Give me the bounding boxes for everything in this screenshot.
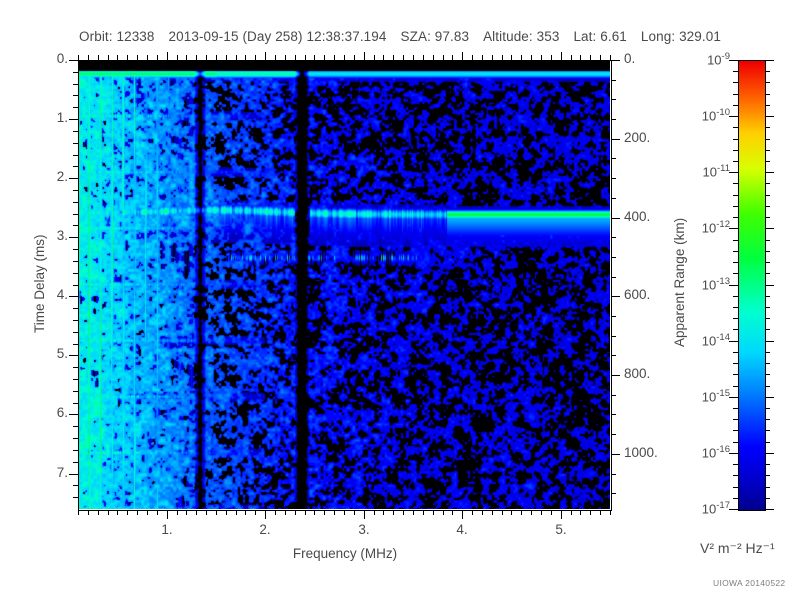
y-tick-minor [73,497,78,498]
x-tick-minor [492,510,493,515]
observation-date: 2013-09-15 (Day 258) [169,29,303,44]
colorbar-tick-minor [765,273,770,274]
colorbar-tick-minor [765,206,770,207]
y-tick-major [69,474,78,475]
y-tick-minor [73,308,78,309]
colorbar-unit-label: V² m⁻² Hz⁻¹ [700,540,775,557]
colorbar-tick-minor [765,464,770,465]
long-value: 329.01 [679,29,721,44]
colorbar-tick-minor [733,430,738,431]
x-tick-minor [255,510,256,515]
x-tick-minor [285,510,286,515]
x-tick-top [275,55,276,60]
y-tick-minor [73,249,78,250]
x-tick-minor [541,510,542,515]
x-tick-label: 4. [442,522,482,537]
x-tick-top [492,55,493,60]
colorbar-tick-label: 10-12 [666,219,730,235]
x-tick-top [216,55,217,60]
x-tick-top [245,55,246,60]
y-tick-minor [73,450,78,451]
y-tick-minor [73,438,78,439]
orbit-label: Orbit: [79,29,113,44]
y-tick-minor [73,391,78,392]
colorbar-tick-minor [733,296,738,297]
x-tick-major [364,510,365,519]
x-tick-minor [275,510,276,515]
x-tick-minor [206,510,207,515]
y-tick-minor [73,155,78,156]
x-tick-minor [226,510,227,515]
x-tick-top [383,55,384,60]
colorbar-tick-minor [733,82,738,83]
colorbar-tick-left [729,341,738,342]
colorbar-tick-minor [733,217,738,218]
y-tick-minor [73,403,78,404]
spectrogram-canvas[interactable] [78,60,610,509]
colorbar-tick-minor [765,386,770,387]
x-tick-top [137,55,138,60]
x-tick-minor [571,510,572,515]
x-tick-minor [403,510,404,515]
colorbar-tick-right [765,116,774,117]
colorbar-tick-minor [733,475,738,476]
colorbar-tick-minor [733,487,738,488]
colorbar-tick-right [765,60,774,61]
y-tick-minor [73,166,78,167]
y2-tick-label: 0. [624,51,635,66]
colorbar-tick-minor [765,408,770,409]
x-tick-major [561,510,562,519]
x-tick-minor [236,510,237,515]
altitude-value: 353 [537,29,560,44]
x-tick-top [196,55,197,60]
lat-label: Lat: [573,29,596,44]
colorbar-tick-minor [765,139,770,140]
observation-time: 12:38:37.194 [306,29,386,44]
y2-tick-label: 600. [624,287,650,302]
x-tick-major [462,510,463,519]
y2-tick-minor [611,316,616,317]
y2-tick-label: 400. [624,209,650,224]
colorbar-tick-minor [733,139,738,140]
y2-tick-label: 1000. [624,445,658,460]
colorbar-tick-minor [765,442,770,443]
x-tick-minor [393,510,394,515]
y2-tick-minor [611,80,616,81]
plot-header: Orbit: 123382013-09-15 (Day 258) 12:38:3… [0,29,800,44]
x-tick-top [226,55,227,60]
x-tick-top [98,55,99,60]
x-tick-top [314,55,315,60]
y2-tick-minor [611,493,616,494]
lat-value: 6.61 [600,29,627,44]
colorbar-tick-minor [733,195,738,196]
colorbar-tick-minor [733,419,738,420]
x-tick-top [610,55,611,60]
x-tick-minor [502,510,503,515]
x-tick-top [551,55,552,60]
colorbar-tick-minor [733,498,738,499]
colorbar-tick-minor [733,240,738,241]
colorbar-tick-minor [765,487,770,488]
y2-tick-label: 800. [624,366,650,381]
colorbar-tick-right [765,341,774,342]
colorbar-tick-left [729,453,738,454]
colorbar-tick-minor [765,105,770,106]
colorbar-tick-minor [765,240,770,241]
y-tick-minor [73,95,78,96]
colorbar-tick-label: 10-14 [666,332,730,348]
x-tick-minor [452,510,453,515]
colorbar-tick-minor [733,318,738,319]
colorbar-tick-minor [765,498,770,499]
y-tick-major [69,296,78,297]
y2-tick-label: 200. [624,130,650,145]
y-tick-minor [73,84,78,85]
colorbar-tick-minor [765,183,770,184]
x-tick-minor [383,510,384,515]
y2-tick-minor [611,434,616,435]
x-tick-minor [580,510,581,515]
y-tick-major [69,414,78,415]
x-tick-top [393,55,394,60]
x-tick-top [521,55,522,60]
x-tick-minor [245,510,246,515]
x-tick-minor [295,510,296,515]
y-tick-minor [73,190,78,191]
y2-tick-minor [611,198,616,199]
y2-tick-major [611,60,620,61]
y2-tick-minor [611,355,616,356]
colorbar-tick-label: 10-9 [666,51,730,67]
x-tick-minor [177,510,178,515]
x-tick-top [374,55,375,60]
x-tick-minor [78,510,79,515]
colorbar-tick-minor [733,273,738,274]
x-tick-minor [147,510,148,515]
colorbar-tick-minor [733,307,738,308]
colorbar-tick-minor [733,161,738,162]
y2-tick-minor [611,336,616,337]
y-tick-minor [73,202,78,203]
colorbar-tick-left [729,397,738,398]
y-axis-title: Time Delay (ms) [32,234,47,333]
x-tick-minor [610,510,611,515]
x-tick-top [531,55,532,60]
y-tick-minor [73,320,78,321]
colorbar-tick-minor [765,161,770,162]
sza-label: SZA: [401,29,431,44]
x-tick-minor [117,510,118,515]
colorbar-tick-minor [733,251,738,252]
x-tick-minor [433,510,434,515]
colorbar-tick-minor [765,363,770,364]
colorbar-tick-minor [733,464,738,465]
x-tick-minor [314,510,315,515]
colorbar-tick-minor [733,374,738,375]
y-tick-minor [73,131,78,132]
x-tick-top [423,55,424,60]
y-tick-major [69,60,78,61]
x-tick-minor [521,510,522,515]
x-tick-major [167,510,168,519]
colorbar-tick-minor [765,71,770,72]
colorbar-tick-minor [765,251,770,252]
colorbar-tick-minor [765,419,770,420]
colorbar-tick-minor [765,374,770,375]
colorbar-tick-minor [765,352,770,353]
x-tick-minor [108,510,109,515]
y-tick-minor [73,225,78,226]
x-tick-minor [305,510,306,515]
x-tick-top [433,55,434,60]
colorbar-tick-minor [733,442,738,443]
colorbar-tick-minor [733,105,738,106]
colorbar-tick-minor [765,307,770,308]
y-tick-label: 7. [26,465,68,480]
x-tick-minor [374,510,375,515]
x-tick-top [462,52,463,60]
colorbar-tick-minor [733,94,738,95]
y2-tick-major [611,454,620,455]
colorbar-tick-left [729,228,738,229]
x-tick-minor [354,510,355,515]
x-tick-top [452,55,453,60]
x-tick-top [590,55,591,60]
x-tick-minor [413,510,414,515]
y-tick-minor [73,72,78,73]
x-tick-top [443,55,444,60]
y-tick-label: 1. [26,110,68,125]
colorbar-tick-minor [733,386,738,387]
colorbar-tick-minor [733,71,738,72]
ionogram-spectrogram[interactable] [78,60,610,509]
y2-tick-minor [611,277,616,278]
x-tick-top [147,55,148,60]
x-tick-minor [186,510,187,515]
x-tick-minor [531,510,532,515]
y-tick-minor [73,273,78,274]
x-tick-top [265,52,266,60]
x-tick-label: 2. [245,522,285,537]
y-tick-minor [73,261,78,262]
x-tick-minor [551,510,552,515]
colorbar-tick-minor [765,195,770,196]
colorbar-tick-minor [765,217,770,218]
x-tick-top [295,55,296,60]
x-tick-top [108,55,109,60]
y-tick-label: 5. [26,346,68,361]
colorbar-tick-minor [733,329,738,330]
y2-tick-minor [611,414,616,415]
colorbar-tick-left [729,509,738,510]
x-tick-minor [423,510,424,515]
x-tick-top [334,55,335,60]
x-tick-top [186,55,187,60]
colorbar-tick-minor [733,183,738,184]
x-tick-top [177,55,178,60]
x-tick-minor [600,510,601,515]
colorbar-tick-minor [765,94,770,95]
y-tick-label: 6. [26,405,68,420]
x-tick-top [600,55,601,60]
colorbar-tick-right [765,228,774,229]
x-tick-label: 1. [147,522,187,537]
x-tick-top [571,55,572,60]
x-tick-top [117,55,118,60]
y-tick-label: 0. [26,51,68,66]
x-tick-minor [98,510,99,515]
x-tick-top [561,52,562,60]
x-tick-top [127,55,128,60]
x-tick-minor [334,510,335,515]
x-tick-top [255,55,256,60]
x-tick-top [285,55,286,60]
x-tick-top [78,55,79,60]
x-tick-minor [344,510,345,515]
y2-tick-minor [611,395,616,396]
x-tick-top [413,55,414,60]
colorbar-tick-minor [765,475,770,476]
x-tick-top [472,55,473,60]
colorbar-tick-minor [733,127,738,128]
colorbar-tick-minor [765,318,770,319]
sza-value: 97.83 [435,29,469,44]
x-tick-minor [482,510,483,515]
y2-tick-major [611,139,620,140]
colorbar-gradient [739,61,765,510]
y-tick-minor [73,332,78,333]
colorbar[interactable] [738,60,766,511]
y2-tick-minor [611,257,616,258]
x-tick-minor [511,510,512,515]
x-axis-title: Frequency (MHz) [0,546,690,561]
colorbar-tick-label: 10-17 [666,500,730,516]
long-label: Long: [641,29,675,44]
colorbar-tick-label: 10-13 [666,276,730,292]
colorbar-tick-right [765,509,774,510]
x-tick-top [511,55,512,60]
colorbar-tick-minor [733,262,738,263]
y-tick-label: 2. [26,169,68,184]
colorbar-tick-right [765,453,774,454]
x-tick-top [324,55,325,60]
altitude-label: Altitude: [483,29,533,44]
colorbar-tick-minor [765,127,770,128]
colorbar-tick-label: 10-10 [666,107,730,123]
x-tick-top [364,52,365,60]
y-tick-minor [73,367,78,368]
y-tick-minor [73,379,78,380]
colorbar-tick-left [729,285,738,286]
colorbar-tick-minor [733,363,738,364]
colorbar-tick-label: 10-16 [666,444,730,460]
x-tick-minor [472,510,473,515]
colorbar-tick-minor [765,430,770,431]
colorbar-tick-minor [765,296,770,297]
colorbar-tick-minor [733,408,738,409]
colorbar-tick-minor [733,206,738,207]
y-tick-minor [73,462,78,463]
x-tick-top [206,55,207,60]
colorbar-tick-minor [765,262,770,263]
x-tick-top [482,55,483,60]
x-tick-top [236,55,237,60]
colorbar-tick-right [765,285,774,286]
y2-tick-minor [611,158,616,159]
x-tick-minor [216,510,217,515]
colorbar-tick-right [765,172,774,173]
y-tick-minor [73,426,78,427]
x-tick-top [157,55,158,60]
y-tick-minor [73,285,78,286]
colorbar-tick-label: 10-15 [666,388,730,404]
colorbar-tick-minor [733,352,738,353]
x-tick-minor [157,510,158,515]
colorbar-tick-left [729,60,738,61]
x-tick-top [305,55,306,60]
y2-tick-minor [611,237,616,238]
x-tick-major [265,510,266,519]
y-tick-minor [73,143,78,144]
y2-tick-major [611,296,620,297]
orbit-value: 12338 [116,29,154,44]
x-tick-minor [324,510,325,515]
colorbar-tick-minor [765,150,770,151]
y2-tick-major [611,218,620,219]
x-tick-top [88,55,89,60]
x-tick-top [344,55,345,60]
x-tick-label: 3. [344,522,384,537]
y-tick-major [69,237,78,238]
colorbar-tick-minor [765,329,770,330]
y-tick-minor [73,344,78,345]
y2-tick-major [611,375,620,376]
x-tick-top [167,52,168,60]
colorbar-tick-right [765,397,774,398]
x-tick-minor [137,510,138,515]
y-tick-major [69,178,78,179]
y2-tick-minor [611,99,616,100]
y2-tick-minor [611,474,616,475]
y2-tick-minor [611,119,616,120]
colorbar-tick-left [729,116,738,117]
y-tick-major [69,119,78,120]
x-tick-minor [127,510,128,515]
y-tick-major [69,355,78,356]
y-tick-minor [73,485,78,486]
x-tick-minor [196,510,197,515]
x-tick-label: 5. [541,522,581,537]
x-tick-minor [443,510,444,515]
colorbar-tick-minor [733,150,738,151]
x-tick-top [502,55,503,60]
x-tick-top [580,55,581,60]
colorbar-tick-left [729,172,738,173]
x-tick-minor [88,510,89,515]
x-tick-minor [590,510,591,515]
y-tick-minor [73,107,78,108]
x-tick-top [354,55,355,60]
colorbar-tick-label: 10-11 [666,163,730,179]
x-tick-top [403,55,404,60]
colorbar-tick-minor [765,82,770,83]
y2-tick-minor [611,178,616,179]
x-tick-top [541,55,542,60]
credit-footer: UIOWA 20140522 [713,578,785,588]
y-tick-minor [73,214,78,215]
